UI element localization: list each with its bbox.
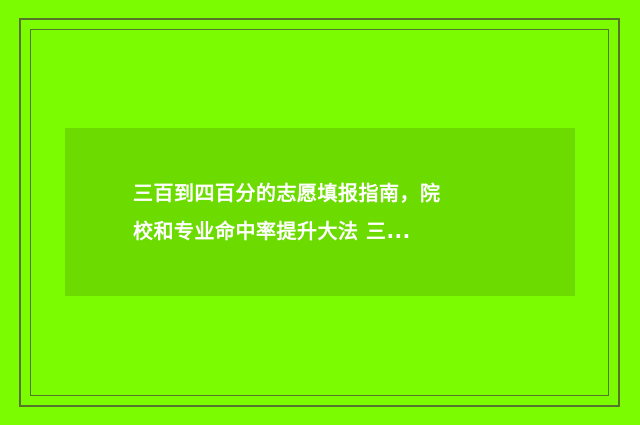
caption-panel: 三百到四百分的志愿填报指南，院 校和专业命中率提升大法 三... <box>65 128 575 296</box>
thumbnail-canvas: 三百到四百分的志愿填报指南，院 校和专业命中率提升大法 三... <box>0 0 640 425</box>
caption-line-1: 三百到四百分的志愿填报指南，院 <box>133 174 575 212</box>
caption-line-2: 校和专业命中率提升大法 三... <box>133 212 575 250</box>
